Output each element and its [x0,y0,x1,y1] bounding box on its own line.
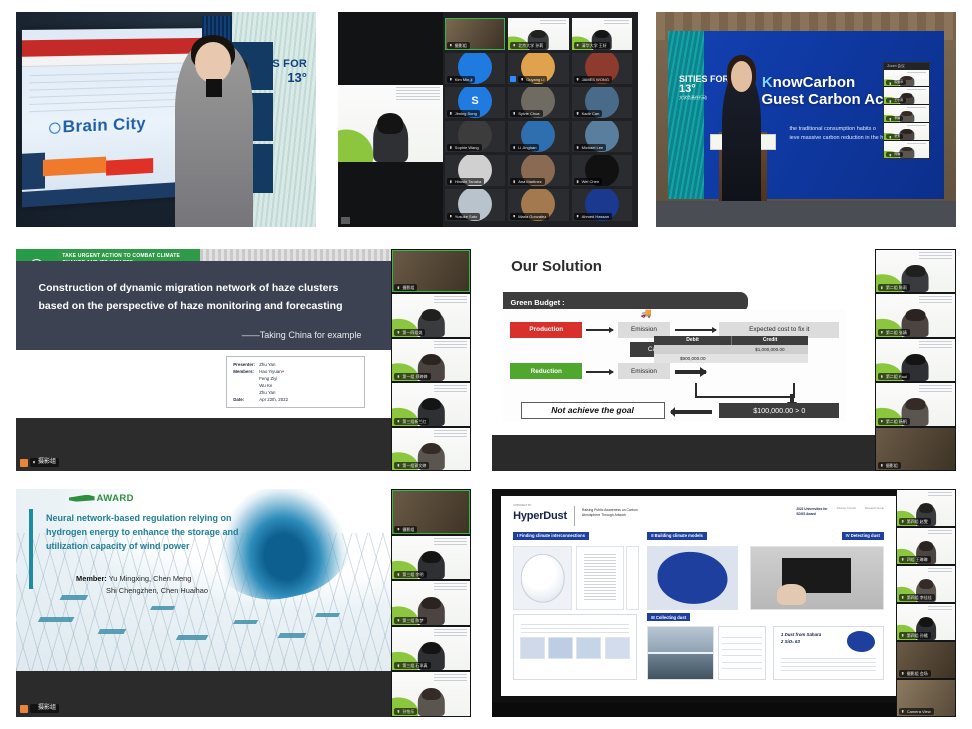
speaker-head [195,42,231,82]
participant-name-label: Sylvie Chua [510,110,542,117]
filmstrip-tile[interactable]: 孙怡乐 [392,672,470,716]
led-zoom-tile: 王小雨 [884,87,929,104]
credit-key [233,375,259,382]
gallery-tile[interactable]: 摄影组 [445,18,505,49]
screen-red-bar [105,158,152,176]
award-line-1: 2022 Universities for [796,507,827,512]
participant-name-label: 北京大学 孙莉 [510,42,546,49]
gallery-tile[interactable]: Kim Min-ji [445,53,505,84]
member-names-2: Shi Chengzhen, Chen Huaihao [76,585,208,597]
brain-city-logo: Brain City [49,114,146,138]
filmstrip-tile[interactable]: 第二组 Paul [876,339,955,381]
led-title-line-2: tel Guest Carbon Acc [740,92,892,109]
section-label-iv: IV Detecting dust [842,532,884,540]
award-line-2: SDGS Award [796,512,827,517]
shared-slide: Our Solution Green Budget : Production E… [492,249,875,435]
participant-name-label: 第四组 孙橘 [899,632,931,639]
filmstrip-tile[interactable]: 摄影组 [392,490,470,534]
article-image-3 [576,637,600,659]
gallery-tile[interactable]: Wei Chen [572,155,632,186]
sdg-grey-strip [200,249,391,261]
participant-name-label: 摄影组 [878,462,901,469]
slide-title-line-2: based on the perspective of haze monitor… [39,297,373,315]
slide-hyperdust-poster: A PROJECT BY HyperDust Raising Public Aw… [492,489,956,717]
slide-title-area: Construction of dynamic migration networ… [16,261,391,350]
filmstrip-tile[interactable]: 第三组 余明 [392,536,470,580]
note-line-2: 2 SiO₂ 63 [781,639,821,646]
participant-name-label: Wei Chen [574,178,603,185]
arrow-result-conclusion [671,410,712,414]
poster-award-block: 2022 Universities for SDGS Award Advisor… [796,507,884,517]
credit-value: Hao Yiyuan [259,368,281,375]
poster-logo-tiny: A PROJECT BY [513,504,567,507]
poster-fig-article [513,614,637,680]
mesh-chip [277,633,306,638]
participant-name-label: 第二组 张婧 [878,329,910,336]
poster-header: A PROJECT BY HyperDust Raising Public Aw… [513,504,884,526]
participant-name-label: Kim Min-ji [447,76,476,83]
mesh-chip [233,620,258,624]
participant-name-label: 王小雨 [886,98,906,103]
mesh-chip [176,635,209,640]
led-zoom-tile: 张芳 [884,123,929,140]
arrow-reduction-emission [586,371,613,373]
gallery-tile[interactable]: JAMES WONG [572,53,632,84]
participant-name-label: Yusuke Sato [447,213,480,220]
mesh-chip [315,613,340,617]
filmstrip-tile[interactable]: 第二组 陈雨 [876,250,955,292]
filmstrip-tile[interactable]: 第三组 石承真 [392,627,470,671]
globe-map-graphic [520,554,565,603]
member-key: Member: [76,574,107,583]
knowcarbon-k: K [762,74,773,91]
poster-canvas: A PROJECT BY HyperDust Raising Public Aw… [501,496,895,697]
gallery-tile[interactable]: Sophie Wang [445,121,505,152]
poster-logo-block: A PROJECT BY HyperDust [513,504,567,524]
zoom-participant-grid[interactable]: 摄影组北京大学 孙莉清华大学 王轩Kim Min-jiOuyang LiJAME… [445,18,632,220]
credit-key [233,389,259,396]
gallery-tile[interactable]: SJiming Song [445,87,505,118]
self-name-label: 摄影组 [30,458,59,467]
uni-line-3: 大学负责任行动 [679,96,729,100]
slide-heading: Our Solution [511,258,602,275]
participant-name-label: Jiming Song [447,110,480,117]
credit-key: Members: [233,368,259,375]
pin-icon [20,459,28,467]
credit-row: Presenter:Zhu Yan [233,361,358,368]
spotlight-video[interactable] [338,85,443,162]
credit-1: Advisory Council [837,507,856,511]
cell-credit-1: $1,000,000.00 [731,345,808,354]
spotlight-participant [373,115,409,163]
table-header-credit: Credit [731,336,809,345]
credit-key: Date: [233,396,259,403]
participant-name-label: 第四组 赵雯 [899,518,931,525]
filmstrip-tile[interactable]: 四组 王琳琳 [897,528,955,564]
screen-spreadsheet-grid [29,65,199,115]
mesh-chip [150,606,175,610]
participant-name-label: 摄影组 [447,42,470,49]
participant-name-label: 第四组 李佳佳 [899,594,935,601]
poster-subtitle: Raising Public Awareness on Carbon Atmos… [582,508,638,518]
participant-name-label: Michael Lee [574,144,607,151]
table-join-bracket [695,383,794,399]
participant-name-label: Sophie Wang [447,144,482,151]
flow-not-achieve-goal: Not achieve the goal [521,402,665,420]
speaker-neck [206,79,222,97]
participant-name-label: 第二组 陈雨 [878,284,910,291]
award-text: 2022 Universities for SDGS Award [796,507,827,517]
chart-lines [584,552,617,601]
brain-city-label: Brain City [62,114,145,137]
filmstrip-tile[interactable]: 第二组 杨帆 [876,383,955,425]
participant-name-label: 周琳 [886,152,903,157]
participant-name-label: 第三组新兰红 [394,418,429,425]
zoom-filmstrip[interactable]: 摄影组第三组 余明第三组 陈梦第三组 石承真孙怡乐 [391,489,471,717]
participant-name-label: Hiroshi Tanaka [447,178,484,185]
member-line-1: Member: Yu Mingxing, Chen Meng [76,573,208,585]
title-accent-bar [29,509,33,589]
knowcarbon-rest: nowCarbon [773,74,856,91]
gallery-tile[interactable]: Michael Lee [572,121,632,152]
credit-2: Research Group [865,507,884,511]
arrow-emission-cost [675,329,716,331]
award-swoosh-icon [69,495,95,502]
mic-muted-icon [510,76,516,82]
blue-blob-graphic [657,552,728,604]
participant-name-label: 第三组 石承真 [394,662,430,669]
gallery-tile[interactable]: Ahmed Hassan [572,189,632,220]
led-title-line-1: KnowCarbon [762,75,892,92]
participant-name-label: Ana Martinez [510,178,545,185]
participant-name-label: 第三组 余明 [394,571,426,578]
flow-result-value: $100,000.00 > 0 [719,403,839,419]
credit-value: Apr 22th, 2022 [259,396,288,403]
filmstrip-tile[interactable]: 第三组新兰红 [392,383,470,425]
filmstrip-tile[interactable]: 第四组 孙橘 [897,604,955,640]
zoom-filmstrip[interactable]: 摄影组第一四组姚第一组 郑婷婷第三组新兰红第一组郭文婷 [391,249,471,471]
zoom-bottom-bar [492,703,956,717]
credit-row: Zhu Yan [233,389,358,396]
flow-emission-2: Emission [618,363,669,379]
led-title: KnowCarbon tel Guest Carbon Acc [762,75,892,109]
article-image-2 [548,637,572,659]
speaker-head [731,61,753,92]
mesh-chip [37,617,74,622]
member-block: Member: Yu Mingxing, Chen Meng Shi Cheng… [76,573,208,597]
filmstrip-tile[interactable]: 第四组 赵雯 [897,490,955,526]
credit-value: Wu Ke [259,382,272,389]
universities-brand-block: SITIES FOR 13° 大学负责任行动 [679,75,729,100]
participant-name-label: 李婧 [886,116,903,121]
mesh-chip [97,629,126,634]
participant-head [418,689,444,716]
pin-icon [20,705,28,713]
credit-value: Feng Ziyi [259,375,277,382]
participant-name-label: 摄影组 [394,526,417,533]
award-logo: AWARD [69,493,134,504]
participant-name-label: 第一组 郑婷婷 [394,373,430,380]
table-row: $1,000,000.00 [654,345,808,354]
screen-blue-block [21,153,44,190]
gallery-tile[interactable]: Maria Gonzalez [508,189,568,220]
stage-speaker [722,72,761,201]
filmstrip-tile[interactable]: 第一四组姚 [392,294,470,336]
credit-row: Date:Apr 22th, 2022 [233,396,358,403]
led-wall: SITIES FOR 13° 大学负责任行动 KnowCarbon tel Gu… [668,31,944,199]
led-zoom-tile: Hotel陈丽华 [884,70,929,87]
spotlight-corner-tag [341,217,350,224]
participant-name-label: Camera View [899,708,934,715]
note-line-1: 1 Dust from Sahara [781,632,821,639]
credit-value: Zhu Yan [259,361,275,368]
filmstrip-tile[interactable]: Camera View [897,680,955,716]
slide-title-line-1: Construction of dynamic migration networ… [39,279,373,297]
screenshot-collage: SITIES FOR 13° Brain City [0,0,972,729]
led-teal-pattern [668,31,704,199]
gallery-tile[interactable]: Sylvie Chua [508,87,568,118]
zoom-bottom-bar: 摄影组 [16,418,391,471]
shared-slide: AWARD Neural network-based regulation re… [16,489,391,671]
participant-name-label: Li Jinghan [510,144,539,151]
arrow-to-result [790,394,794,403]
credit-key [233,382,259,389]
slide-title: Construction of dynamic migration networ… [39,279,373,316]
self-name-badge: 摄影组 [20,704,59,713]
participant-name-label: 摄影组 [394,284,417,291]
participant-name-label: 第二组 杨帆 [878,418,910,425]
led-zoom-tile: 李婧 [884,105,929,122]
table-header-row: Debit Credit [654,336,808,345]
participant-name-label: Ouyang Li [518,76,547,83]
participant-name-label: 第一组郭文婷 [394,462,429,469]
filmstrip-tile[interactable]: 第一组郭文婷 [392,428,470,470]
participant-name-label: Maria Gonzalez [510,213,549,220]
credit-row: Feng Ziyi [233,375,358,382]
participant-name-label: 张芳 [886,134,903,139]
participant-name-label: 第二组 Paul [878,373,910,380]
section-label-i: I Finding climate interconnections [513,532,589,540]
stage-speaker [175,44,253,227]
poster-fig-chart-1 [576,546,623,610]
poster-fig-chalkboard [750,546,884,610]
zoom-gallery-view-panel: 摄影组北京大学 孙莉清华大学 王轩Kim Min-jiOuyang LiJAME… [338,12,638,227]
filmstrip-tile[interactable]: 第一组 郑婷婷 [392,339,470,381]
header-divider [574,506,575,526]
table-header-debit: Debit [654,336,731,345]
credit-row: Wu Ke [233,382,358,389]
gallery-tile[interactable]: Hiroshi Tanaka [445,155,505,186]
participant-name-label: 陈丽华 [886,80,906,85]
slide-wind-power-hydrogen: AWARD Neural network-based regulation re… [16,489,471,717]
flow-production: Production [510,322,582,338]
screen-orange-bar [43,157,106,176]
bulb-icon [49,122,60,134]
credit-plus: + [282,368,285,375]
photo-knowcarbon-stage: SITIES FOR 13° 大学负责任行动 KnowCarbon tel Gu… [656,12,956,227]
cell-credit-2 [731,354,808,363]
participant-name-label: 摄影组 会场 [899,670,931,677]
participant-name-label: 孙怡乐 [394,708,417,715]
flow-reduction: Reduction [510,363,582,379]
photo-bottom [648,654,713,679]
filmstrip-tile[interactable]: 摄影组 会场 [897,642,955,678]
credit-row: Members:Hao Yiyuan+ [233,368,358,375]
participant-name-label: 四组 王琳琳 [899,556,931,563]
filmstrip-tile[interactable]: 第三组 陈梦 [392,581,470,625]
filmstrip-tile[interactable]: 摄影组 [392,250,470,292]
participant-name-label: JAMES WONG [574,76,612,83]
zoom-bottom-bar: 摄影组 [16,671,391,717]
gallery-tile[interactable]: Kadir Can [572,87,632,118]
poster-logo: HyperDust [513,510,567,522]
arrow-production-emission [586,329,613,331]
led-zoom-window: Zoom 会议 Hotel陈丽华王小雨李婧张芳周琳 [883,62,930,159]
filmstrip-tile[interactable]: 摄影组 [876,428,955,470]
self-name-label: 摄影组 [30,704,59,713]
table-row: $900,000.00 [654,354,808,363]
gallery-tile[interactable]: 清华大学 王轩 [572,18,632,49]
poster-fig-results-table: 1 Dust from Sahara 2 SiO₂ 63 [773,626,883,680]
filmstrip-tile[interactable]: 第二组 张婧 [876,294,955,336]
poster-fig-globe-map [513,546,572,610]
slide-haze-migration-network: TAKE URGENT ACTION TO COMBAT CLIMATE CHA… [16,249,471,471]
poster-fig-legend-1 [626,546,640,610]
participant-name-label: Ahmed Hassan [574,213,612,220]
poster-fig-photo-pair [647,626,714,680]
slide-subtitle: ——Taking China for example [242,330,362,340]
gallery-tile[interactable]: Ouyang Li [508,53,568,84]
photo-opening-ceremony-stage: SITIES FOR 13° Brain City [16,12,316,227]
hotel-word: Hotel [915,75,928,81]
cell-debit-1 [654,345,731,354]
gallery-tile[interactable]: Ana Martinez [508,155,568,186]
blue-dot-graphic [847,631,875,652]
gallery-tile[interactable]: 北京大学 孙莉 [508,18,568,49]
article-image-1 [520,637,544,659]
credit-key: Presenter: [233,361,259,368]
slide-our-solution: Our Solution Green Budget : Production E… [492,249,956,471]
gallery-tile[interactable]: Li Jinghan [508,121,568,152]
section-label-iii: III Collecting dust [647,613,690,621]
poster-fig-blue-blob [647,546,738,610]
led-zoom-tile: 周琳 [884,141,929,158]
poster-subtitle-line-2: Atmosphere Through Artwork [582,513,638,518]
poster-note: 1 Dust from Sahara 2 SiO₂ 63 [781,632,821,645]
cell-debit-2: $900,000.00 [654,354,731,363]
participant-name-label: Kadir Can [574,110,603,117]
slide-credits-box: Presenter:Zhu YanMembers:Hao Yiyuan+Feng… [226,356,365,409]
stage-floor [656,201,956,227]
filmstrip-tile[interactable]: 第四组 李佳佳 [897,566,955,602]
zoom-filmstrip[interactable]: 第二组 陈雨第二组 张婧第二组 Paul第二组 杨帆摄影组 [875,249,956,471]
participant-name-label: 清华大学 王轩 [574,42,610,49]
gallery-tile[interactable]: Yusuke Sato [445,189,505,220]
poster-fig-diagram [718,626,765,680]
participant-name-label: 第一四组姚 [394,329,425,336]
hand [777,584,806,605]
photo-top [648,627,713,652]
zoom-spotlight-area [338,12,443,227]
member-names-1: Yu Mingxing, Chen Meng [109,574,192,583]
truck-icon: 🚚 [641,308,652,319]
section-label-ii: II Building climate models [647,532,707,540]
arrow-emission-table [675,370,706,374]
zoom-filmstrip[interactable]: 第四组 赵雯四组 王琳琳第四组 李佳佳第四组 孙橘摄影组 会场Camera Vi… [896,489,956,717]
flow-diagram: Production Emission 🚚 Carbon price Expec… [503,309,846,421]
article-image-4 [605,637,631,659]
credit-value: Zhu Yan [259,389,275,396]
slide-title: Neural network-based regulation relying … [46,511,241,554]
participant-name-label: 第三组 陈梦 [394,617,426,624]
debit-credit-table: Debit Credit $1,000,000.00 $900,000.00 [654,336,808,363]
award-label: AWARD [97,493,134,504]
shared-slide: TAKE URGENT ACTION TO COMBAT CLIMATE CHA… [16,249,391,418]
zoom-window-titlebar: Zoom 会议 [884,63,929,70]
self-name-badge: 摄影组 [20,458,59,467]
